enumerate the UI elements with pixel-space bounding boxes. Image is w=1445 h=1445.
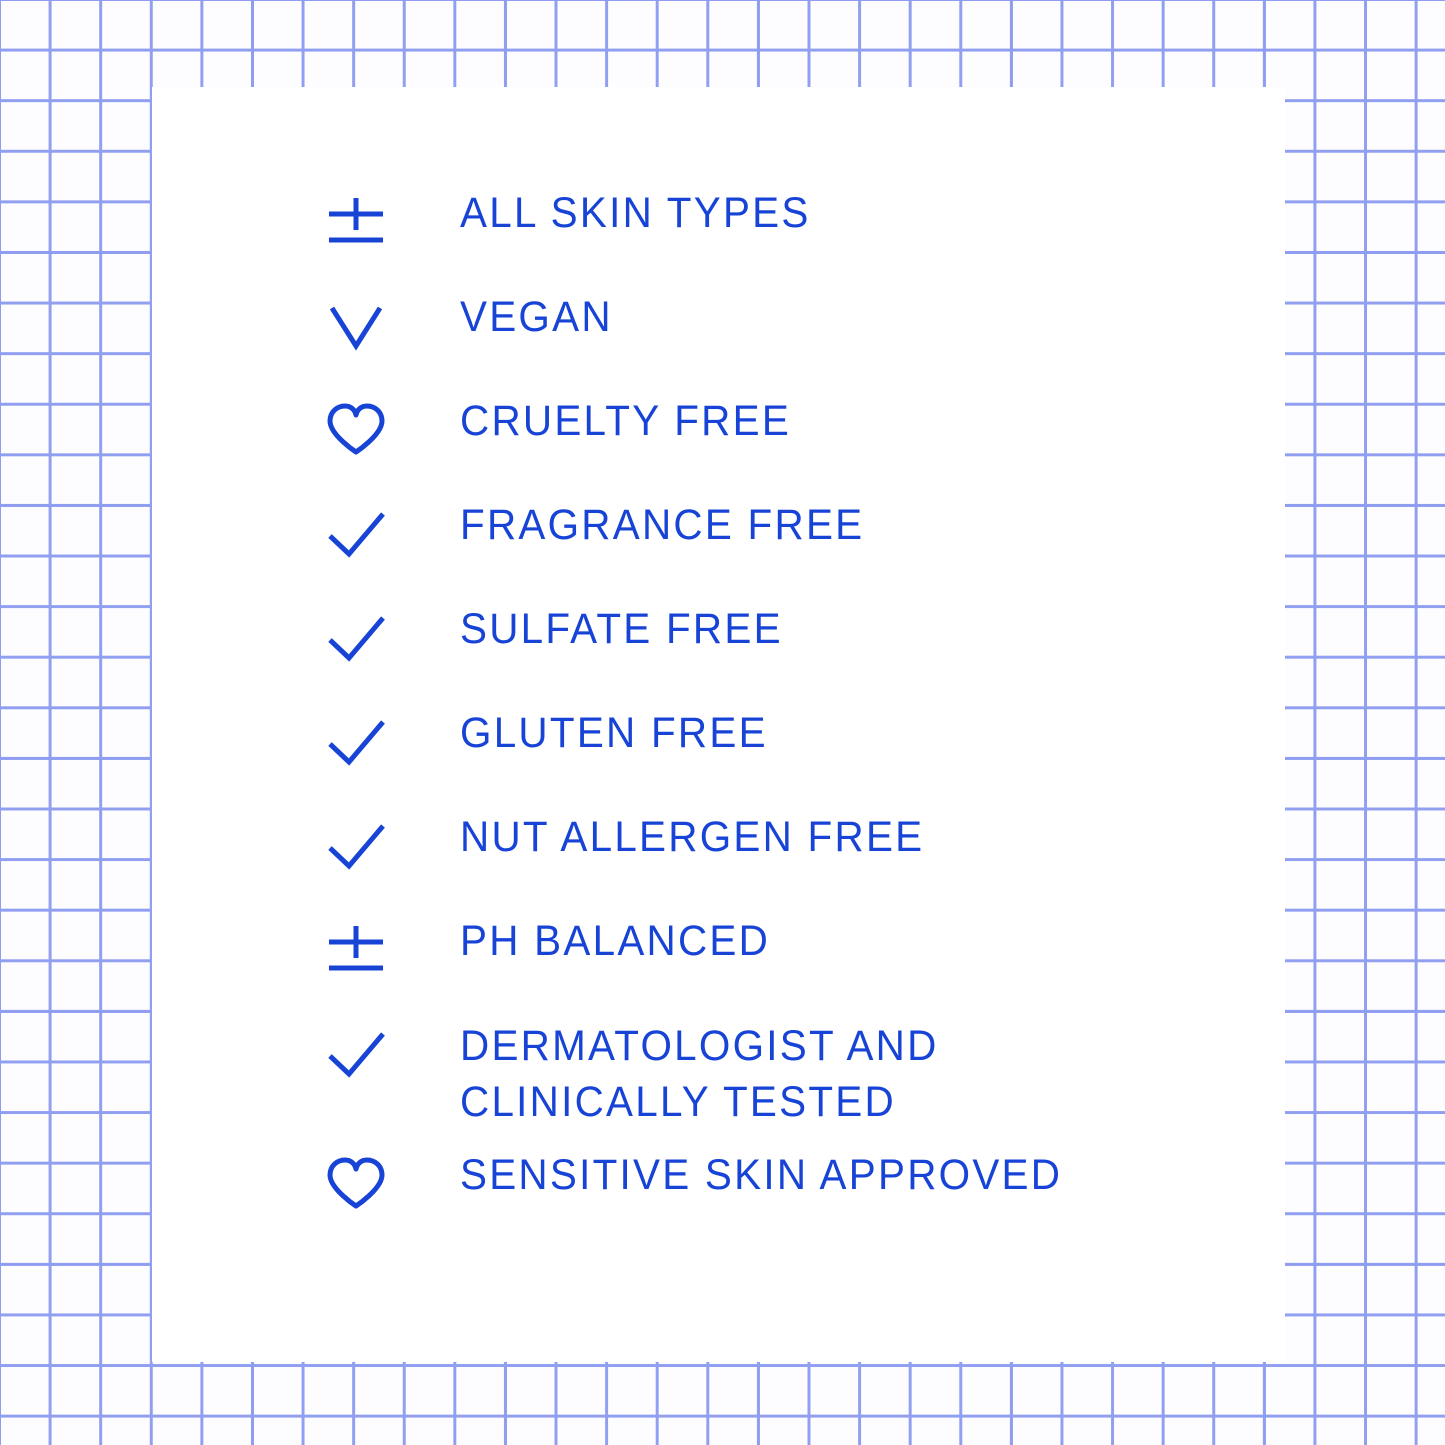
claim-row: PH BALANCED [325,914,1265,1018]
claim-row: ALL SKIN TYPES [325,186,1265,290]
claim-row: GLUTEN FREE [325,706,1265,810]
claim-label: CRUELTY FREE [460,394,791,448]
checkmark-icon [325,816,387,878]
claim-row: CRUELTY FREE [325,394,1265,498]
claim-row: FRAGRANCE FREE [325,498,1265,602]
checkmark-icon [325,608,387,670]
claim-label: GLUTEN FREE [460,706,768,760]
vegan-v-icon [325,296,387,358]
claim-row: NUT ALLERGEN FREE [325,810,1265,914]
claims-graphic: ALL SKIN TYPESVEGANCRUELTY FREEFRAGRANCE… [0,0,1445,1445]
checkmark-icon [325,712,387,774]
claim-label: ALL SKIN TYPES [460,186,811,240]
claim-label: VEGAN [460,290,613,344]
plus-minus-icon [325,192,387,254]
claim-label: DERMATOLOGIST AND CLINICALLY TESTED [460,1018,939,1130]
heart-icon [325,1154,387,1216]
claim-label: FRAGRANCE FREE [460,498,864,552]
claim-row: SULFATE FREE [325,602,1265,706]
plus-minus-icon [325,920,387,982]
claim-row: SENSITIVE SKIN APPROVED [325,1148,1265,1252]
claim-label: NUT ALLERGEN FREE [460,810,924,864]
claim-label: SULFATE FREE [460,602,783,656]
claim-row: DERMATOLOGIST AND CLINICALLY TESTED [325,1018,1265,1148]
claim-label: SENSITIVE SKIN APPROVED [460,1148,1062,1202]
checkmark-icon [325,504,387,566]
heart-icon [325,400,387,462]
claim-row: VEGAN [325,290,1265,394]
claim-label: PH BALANCED [460,914,770,968]
claims-list: ALL SKIN TYPESVEGANCRUELTY FREEFRAGRANCE… [325,186,1265,1252]
checkmark-icon [325,1024,387,1086]
